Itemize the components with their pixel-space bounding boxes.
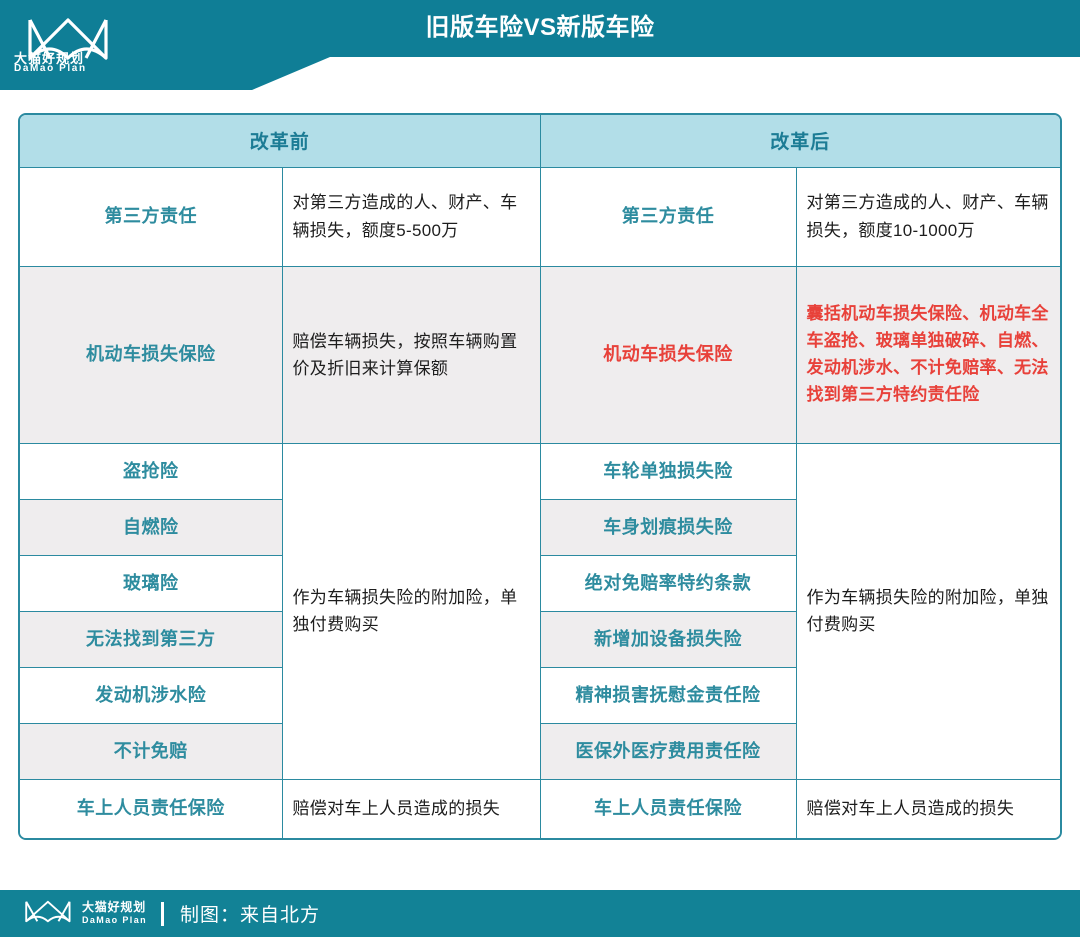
addon-before-item: 自燃险 [20,499,282,555]
comparison-table: 改革前 改革后 第三方责任 对第三方造成的人、财产、车辆损失，额度5-500万 … [18,113,1062,840]
row-after-name: 机动车损失保险 [540,267,796,444]
addon-after-item: 绝对免赔率特约条款 [540,555,796,611]
addon-before-item: 发动机涉水险 [20,667,282,723]
column-header-after: 改革后 [540,115,1060,167]
footer-credit: 制图：来自北方 [180,900,320,927]
cat-face-logo-icon [22,899,76,929]
addon-before-item: 盗抢险 [20,443,282,499]
addon-after-item: 医保外医疗费用责任险 [540,723,796,779]
addon-after-item: 精神损害抚慰金责任险 [540,667,796,723]
table-row: 车上人员责任保险 赔偿对车上人员造成的损失 车上人员责任保险 赔偿对车上人员造成… [20,779,1060,838]
column-header-before: 改革前 [20,115,540,167]
addon-after-desc: 作为车辆损失险的附加险，单独付费购买 [796,443,1060,779]
logo-name-en: DaMao Plan [14,63,87,74]
addon-before-item: 玻璃险 [20,555,282,611]
addon-before-item: 无法找到第三方 [20,611,282,667]
row-after-name: 第三方责任 [540,167,796,267]
footer-brand-cn: 大猫好规划 [82,901,147,914]
row-after-desc: 对第三方造成的人、财产、车辆损失，额度10-1000万 [796,167,1060,267]
footer-brand-en: DaMao Plan [82,914,147,926]
row-before-desc: 赔偿对车上人员造成的损失 [282,779,540,838]
row-before-name: 第三方责任 [20,167,282,267]
row-before-name: 车上人员责任保险 [20,779,282,838]
table-row: 第三方责任 对第三方造成的人、财产、车辆损失，额度5-500万 第三方责任 对第… [20,167,1060,267]
table-header-row: 改革前 改革后 [20,115,1060,167]
row-before-desc: 赔偿车辆损失，按照车辆购置价及折旧来计算保额 [282,267,540,444]
addon-after-item: 新增加设备损失险 [540,611,796,667]
row-after-name: 车上人员责任保险 [540,779,796,838]
addon-before-item: 不计免赔 [20,723,282,779]
row-before-name: 机动车损失保险 [20,267,282,444]
addon-after-item: 车轮单独损失险 [540,443,796,499]
page-header: 大猫好规划 DaMao Plan 旧版车险VS新版车险 [0,0,1080,90]
page-footer: 大猫好规划 DaMao Plan 制图：来自北方 [0,890,1080,937]
row-before-desc: 对第三方造成的人、财产、车辆损失，额度5-500万 [282,167,540,267]
addon-after-item: 车身划痕损失险 [540,499,796,555]
row-after-desc: 囊括机动车损失保险、机动车全车盗抢、玻璃单独破碎、自燃、发动机涉水、不计免赔率、… [796,267,1060,444]
row-after-desc: 赔偿对车上人员造成的损失 [796,779,1060,838]
addon-before-desc: 作为车辆损失险的附加险，单独付费购买 [282,443,540,779]
page-title: 旧版车险VS新版车险 [0,8,1080,48]
addon-row: 盗抢险 作为车辆损失险的附加险，单独付费购买 车轮单独损失险 作为车辆损失险的附… [20,443,1060,499]
table-row: 机动车损失保险 赔偿车辆损失，按照车辆购置价及折旧来计算保额 机动车损失保险 囊… [20,267,1060,444]
footer-divider [161,902,164,926]
